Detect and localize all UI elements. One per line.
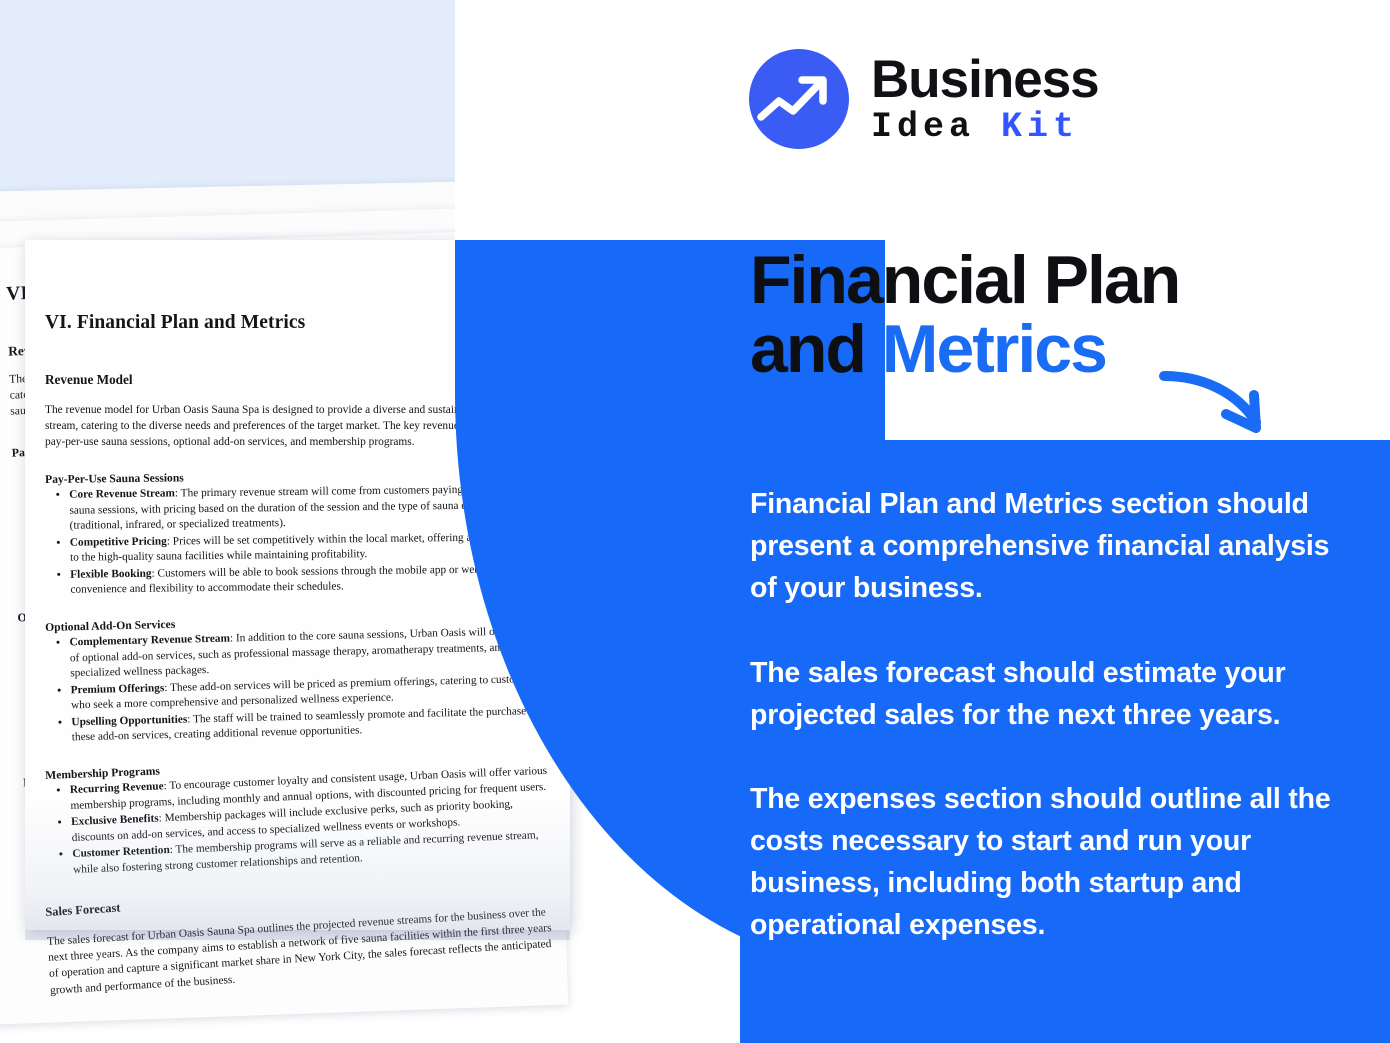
list-item-term: Competitive Pricing: [70, 535, 167, 548]
headline-line-one: Financial Plan: [750, 246, 1310, 315]
document-page-front[interactable]: VI. Financial Plan and Metrics Revenue M…: [25, 240, 570, 940]
slide-canvas: VI. Financial Plan and Metrics Revenue M…: [0, 0, 1390, 1043]
copy-paragraph-1: Financial Plan and Metrics section shoul…: [750, 483, 1350, 610]
logo-line-one: Business: [871, 53, 1099, 107]
curved-arrow-down-right-icon: [1150, 350, 1290, 450]
document-list-item: Competitive Pricing: Prices will be set …: [70, 529, 551, 566]
document-list-item: Core Revenue Stream: The primary revenue…: [69, 481, 551, 534]
document-group-membership: Membership Programs Recurring Revenue: T…: [45, 748, 554, 879]
copy-paragraph-3: The expenses section should outline all …: [750, 778, 1350, 947]
list-item-text: : In addition to the core sauna sessions…: [70, 624, 547, 679]
list-item-term: Premium Offerings: [71, 681, 165, 695]
growth-chart-arrow-icon: [749, 49, 849, 149]
logo-kit-text: Kit: [1001, 107, 1079, 147]
document-group-list: Complementary Revenue Stream: In additio…: [45, 623, 553, 746]
document-page-surface: VI. Financial Plan and Metrics Revenue M…: [25, 240, 570, 930]
brand-logo: Business Idea Kit: [749, 39, 1309, 159]
logo-line-two: Idea Kit: [871, 109, 1099, 146]
document-list-item: Flexible Booking: Customers will be able…: [70, 561, 551, 598]
list-item-term: Exclusive Benefits: [71, 812, 159, 828]
document-group-list: Core Revenue Stream: The primary revenue…: [45, 481, 551, 598]
document-group-add-on: Optional Add-On Services Complementary R…: [45, 608, 553, 746]
headline-and-text: and: [750, 311, 882, 387]
list-item-term: Recurring Revenue: [70, 780, 164, 796]
document-title: VI. Financial Plan and Metrics: [45, 312, 550, 334]
document-page-content: VI. Financial Plan and Metrics Revenue M…: [45, 240, 550, 930]
document-intro-paragraph: The revenue model for Urban Oasis Sauna …: [45, 402, 550, 451]
list-item-term: Upselling Opportunities: [71, 713, 187, 728]
document-section-heading: Revenue Model: [45, 372, 550, 388]
list-item-term: Customer Retention: [72, 844, 170, 860]
logo-idea-text: Idea: [871, 107, 975, 147]
body-copy: Financial Plan and Metrics section shoul…: [750, 483, 1350, 947]
document-group-pay-per-use: Pay-Per-Use Sauna Sessions Core Revenue …: [45, 466, 552, 598]
document-stack: VI. Financial Plan and Metrics Revenue M…: [0, 0, 760, 1043]
copy-paragraph-2: The sales forecast should estimate your …: [750, 652, 1350, 736]
logo-wordmark: Business Idea Kit: [871, 53, 1099, 146]
document-group-list: Recurring Revenue: To encourage customer…: [46, 763, 554, 879]
list-item-term: Flexible Booking: [70, 567, 151, 580]
list-item-term: Core Revenue Stream: [69, 487, 175, 500]
list-item-term: Complementary Revenue Stream: [69, 632, 230, 648]
headline-metrics-text: Metrics: [882, 311, 1106, 387]
